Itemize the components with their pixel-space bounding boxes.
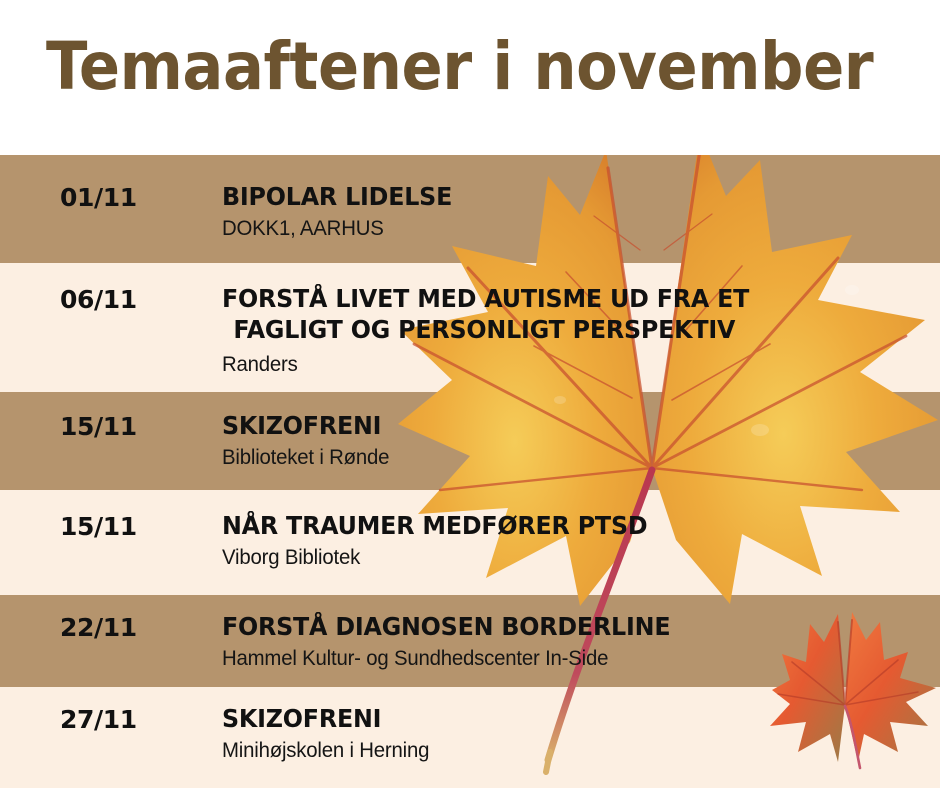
event-date: 22/11 (60, 613, 137, 642)
event-venue: Minihøjskolen i Herning (222, 737, 909, 764)
event-details: SKIZOFRENI Biblioteket i Rønde (222, 410, 930, 471)
event-details: FORSTÅ LIVET MED AUTISME UD FRA ET FAGLI… (222, 283, 930, 378)
event-title: SKIZOFRENI (222, 703, 895, 734)
event-date: 06/11 (60, 285, 137, 314)
event-date: 15/11 (60, 512, 137, 541)
event-venue: Randers (222, 351, 909, 378)
list-item[interactable]: 01/11 BIPOLAR LIDELSE DOKK1, AARHUS (0, 155, 940, 263)
event-venue: Viborg Bibliotek (222, 544, 909, 571)
poster-header: Temaaftener i november (0, 0, 940, 155)
event-date: 01/11 (60, 183, 137, 212)
event-title-line-2: FAGLIGT OG PERSONLIGT PERSPEKTIV (222, 314, 895, 345)
list-item[interactable]: 06/11 FORSTÅ LIVET MED AUTISME UD FRA ET… (0, 263, 940, 392)
list-item[interactable]: 22/11 FORSTÅ DIAGNOSEN BORDERLINE Hammel… (0, 595, 940, 687)
event-details: BIPOLAR LIDELSE DOKK1, AARHUS (222, 181, 930, 242)
event-title: NÅR TRAUMER MEDFØRER PTSD (222, 510, 895, 541)
event-title: FORSTÅ DIAGNOSEN BORDERLINE (222, 611, 895, 642)
poster-canvas: Temaaftener i november 01/11 BIPOLAR LID… (0, 0, 940, 788)
page-title: Temaaftener i november (46, 28, 873, 105)
event-venue: DOKK1, AARHUS (222, 215, 909, 242)
event-date: 15/11 (60, 412, 137, 441)
event-details: FORSTÅ DIAGNOSEN BORDERLINE Hammel Kultu… (222, 611, 930, 672)
list-item[interactable]: 15/11 SKIZOFRENI Biblioteket i Rønde (0, 392, 940, 490)
list-item[interactable]: 27/11 SKIZOFRENI Minihøjskolen i Herning (0, 687, 940, 788)
event-details: NÅR TRAUMER MEDFØRER PTSD Viborg Bibliot… (222, 510, 930, 571)
list-item[interactable]: 15/11 NÅR TRAUMER MEDFØRER PTSD Viborg B… (0, 490, 940, 595)
event-details: SKIZOFRENI Minihøjskolen i Herning (222, 703, 930, 764)
event-venue: Hammel Kultur- og Sundhedscenter In-Side (222, 645, 909, 672)
event-title: SKIZOFRENI (222, 410, 895, 441)
event-title: BIPOLAR LIDELSE (222, 181, 895, 212)
event-venue: Biblioteket i Rønde (222, 444, 909, 471)
event-title: FORSTÅ LIVET MED AUTISME UD FRA ET FAGLI… (222, 283, 895, 345)
event-date: 27/11 (60, 705, 137, 734)
event-title-line-1: FORSTÅ LIVET MED AUTISME UD FRA ET (222, 284, 749, 313)
